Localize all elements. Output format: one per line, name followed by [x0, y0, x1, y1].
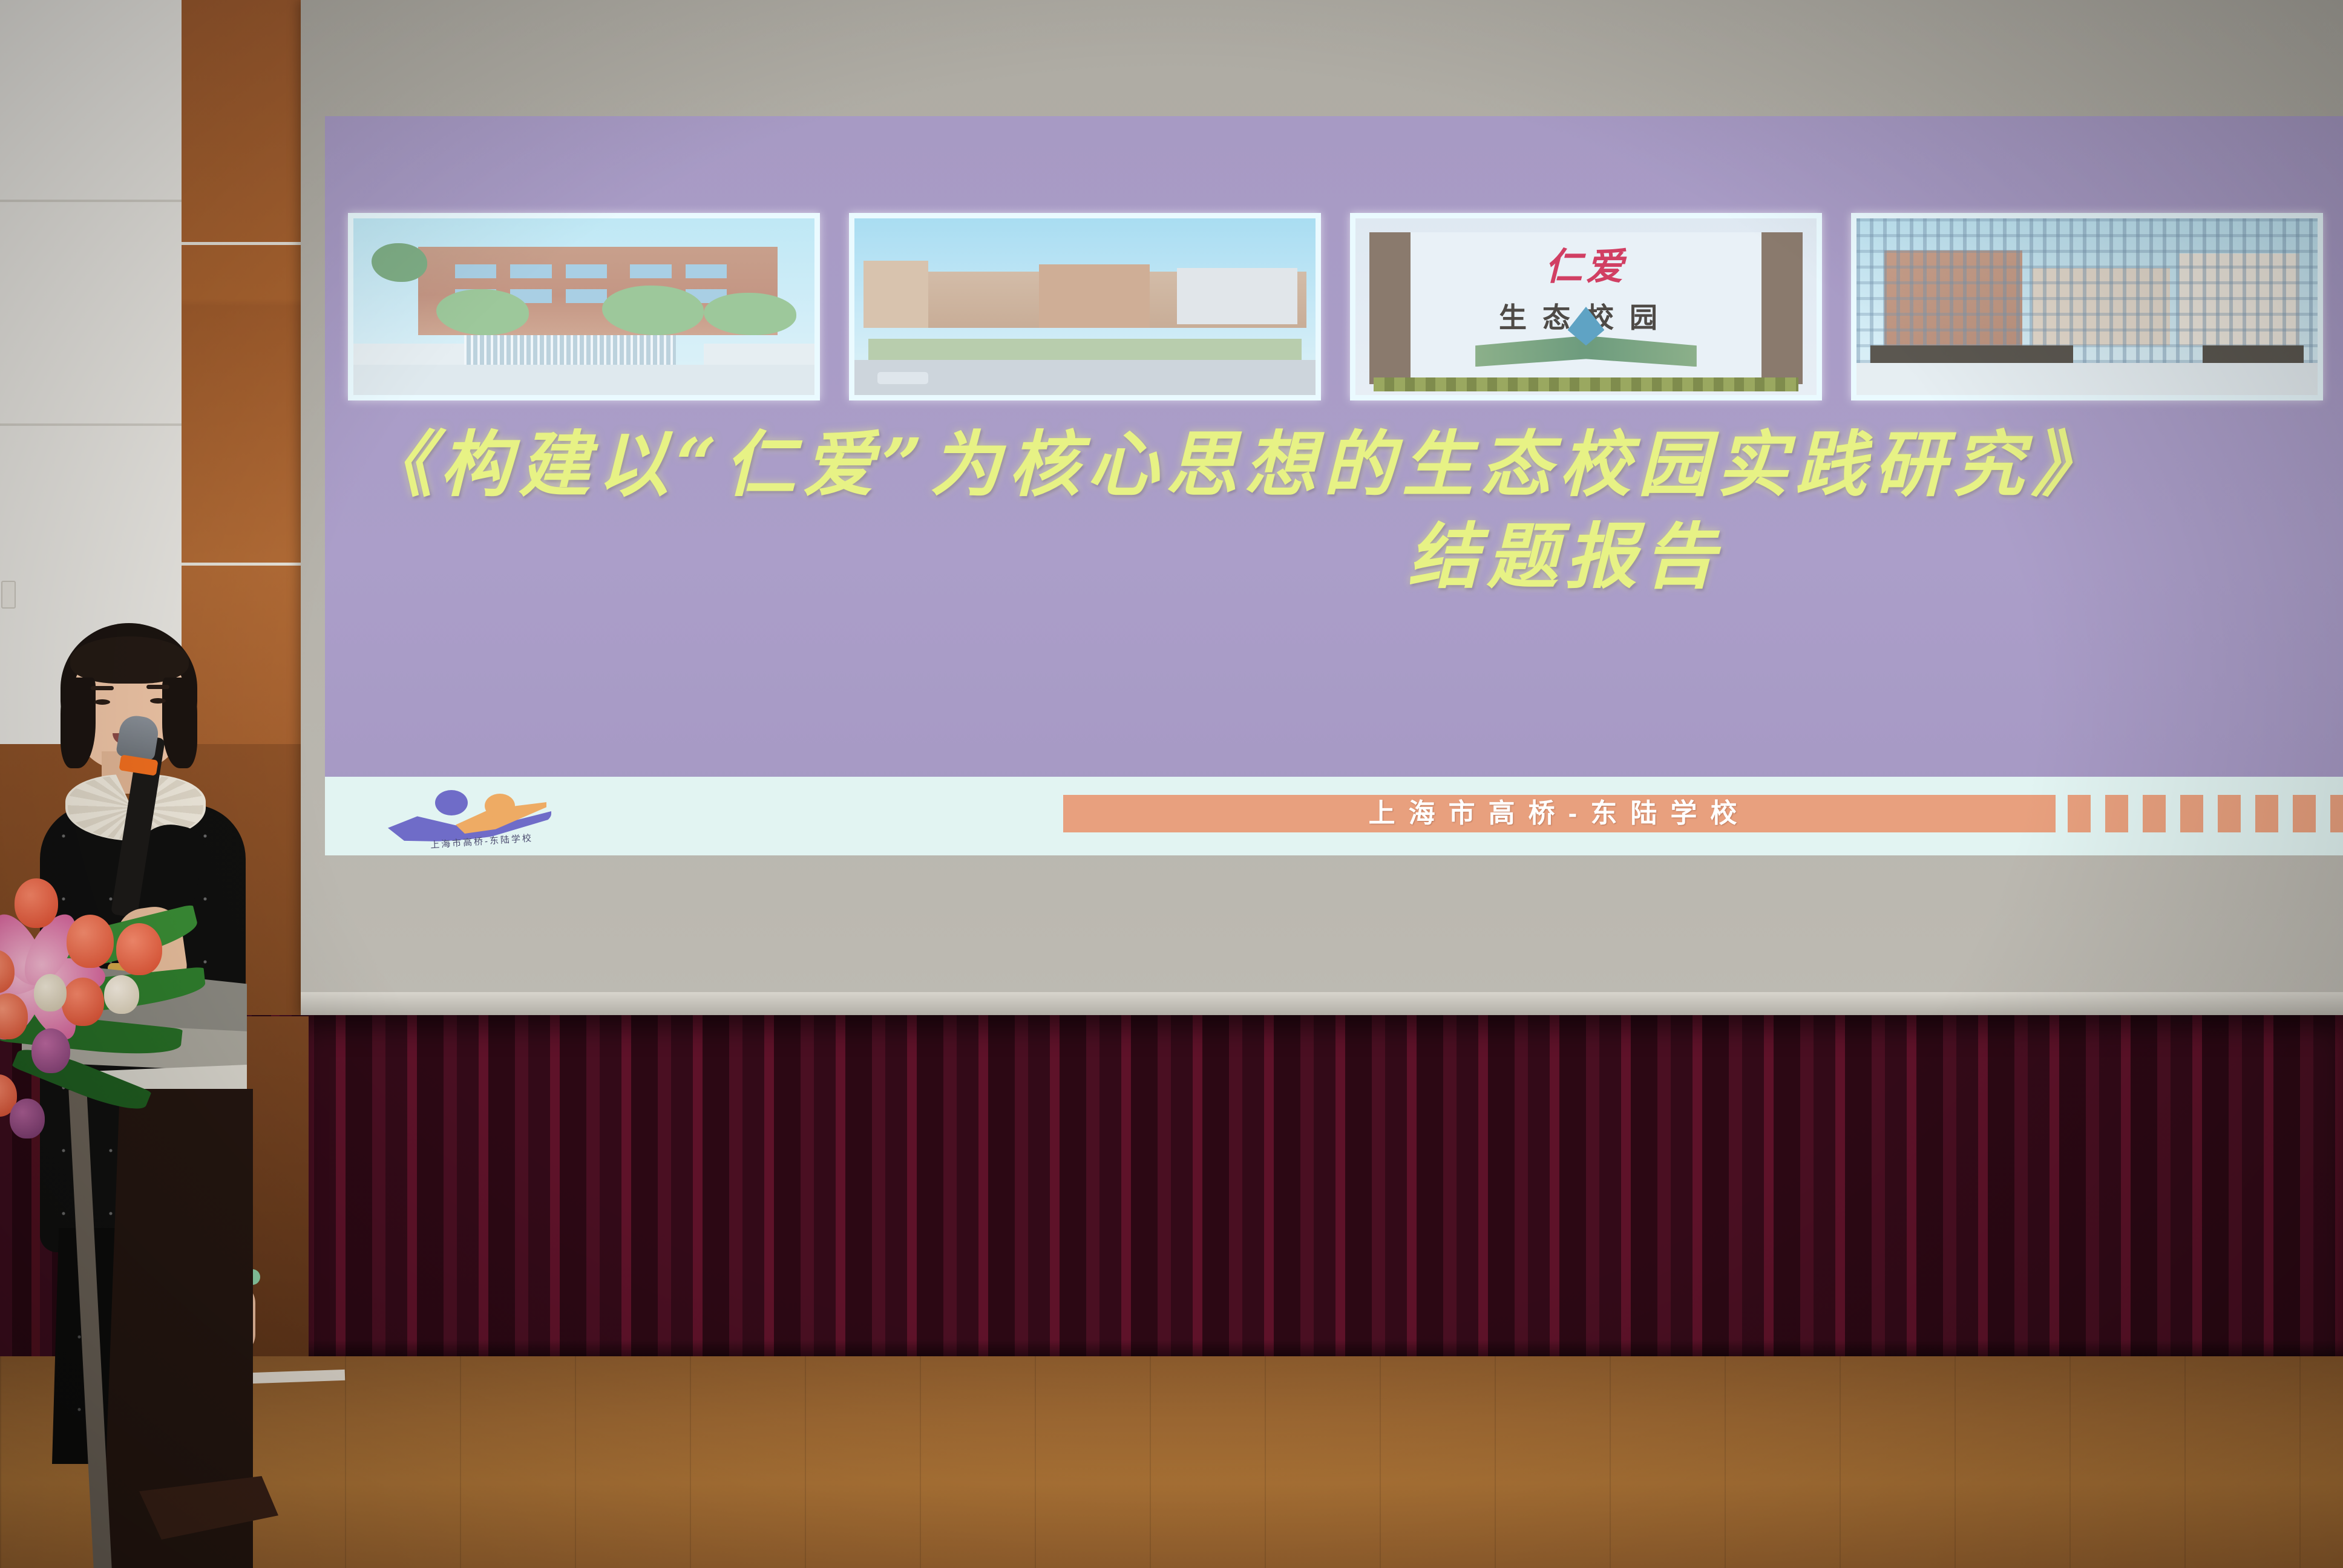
presenter-hair-left: [61, 678, 96, 768]
photo1-fence-left: [353, 344, 464, 365]
photo1-ground: [353, 365, 814, 395]
slide-footer-bar: 上海市高桥-东陆学校 上海市高桥-东陆学校: [325, 777, 2343, 855]
photo1-tree: [436, 289, 528, 335]
logo-orange-head: [485, 794, 515, 818]
presenter-brow-left: [91, 686, 114, 690]
photo1-sliding-gate: [464, 335, 677, 365]
presenter-brow-right: [146, 685, 169, 689]
photo1-tree: [372, 243, 427, 282]
photo1-window: [455, 264, 497, 278]
photo1-window: [566, 289, 608, 303]
photo-3-content: 仁爱 生态校园: [1355, 218, 1817, 395]
photo4-plaza: [1856, 363, 2318, 395]
orange-rose: [67, 915, 114, 968]
photo1-window: [566, 264, 608, 278]
photo2-car: [877, 372, 928, 384]
footer-dash-pattern: [2068, 795, 2343, 832]
school-logo-icon: 上海市高桥-东陆学校: [383, 786, 559, 847]
photo2-building: [863, 261, 928, 328]
photo2-building: [1177, 268, 1297, 324]
photo1-window: [510, 264, 552, 278]
photo2-building: [1039, 264, 1150, 328]
footer-school-name: 上海市高桥-东陆学校: [1063, 795, 2056, 832]
slide-photo-strip: 仁爱 生态校园: [325, 213, 2343, 400]
white-rose: [34, 974, 67, 1011]
slide-photo-2: [849, 213, 1321, 400]
orange-rose: [116, 923, 162, 975]
footer-school-name-band: 上海市高桥-东陆学校: [1063, 795, 2056, 832]
photo-1-content: [353, 218, 814, 395]
photo-4-content: [1856, 218, 2318, 395]
white-rose: [104, 975, 139, 1014]
photo1-window: [630, 264, 672, 278]
projected-slide: 仁爱 生态校园: [325, 116, 2343, 855]
presenter-fringe: [70, 636, 189, 684]
floor-plank-lines: [0, 1356, 2343, 1568]
photo-2-content: [854, 218, 1316, 395]
purple-rose: [31, 1028, 70, 1073]
orange-rose: [62, 978, 104, 1026]
presentation-scene-photo: 仁爱 生态校园: [0, 0, 2343, 1568]
purple-rose: [10, 1099, 45, 1138]
stage-floor: [0, 1356, 2343, 1568]
stage-curtain: [301, 1015, 2343, 1360]
presenter-eye-right: [150, 698, 166, 704]
orange-rose: [15, 878, 58, 928]
slide-title-line-1: 《构建以“仁爱”为核心思想的生态校园实践研究》: [361, 419, 2110, 510]
slide-title-line-2: 结题报告: [1408, 511, 1723, 602]
slide-photo-4: [1851, 213, 2323, 400]
wall-socket-plate: [1, 581, 16, 609]
flower-arrangement: [0, 835, 260, 1174]
presenter-hair-right: [162, 678, 197, 768]
photo1-tree: [602, 286, 704, 335]
slide-photo-3: 仁爱 生态校园: [1350, 213, 1822, 400]
photo1-tree: [704, 293, 796, 335]
photo1-window: [686, 264, 727, 278]
photo1-fence-right: [704, 344, 814, 365]
photo3-renai-calligraphy: 仁爱: [1355, 236, 1817, 290]
logo-purple-head: [435, 790, 468, 815]
slide-photo-1: [348, 213, 820, 400]
presenter-eye-left: [94, 699, 110, 705]
photo3-hedge: [1374, 377, 1798, 391]
